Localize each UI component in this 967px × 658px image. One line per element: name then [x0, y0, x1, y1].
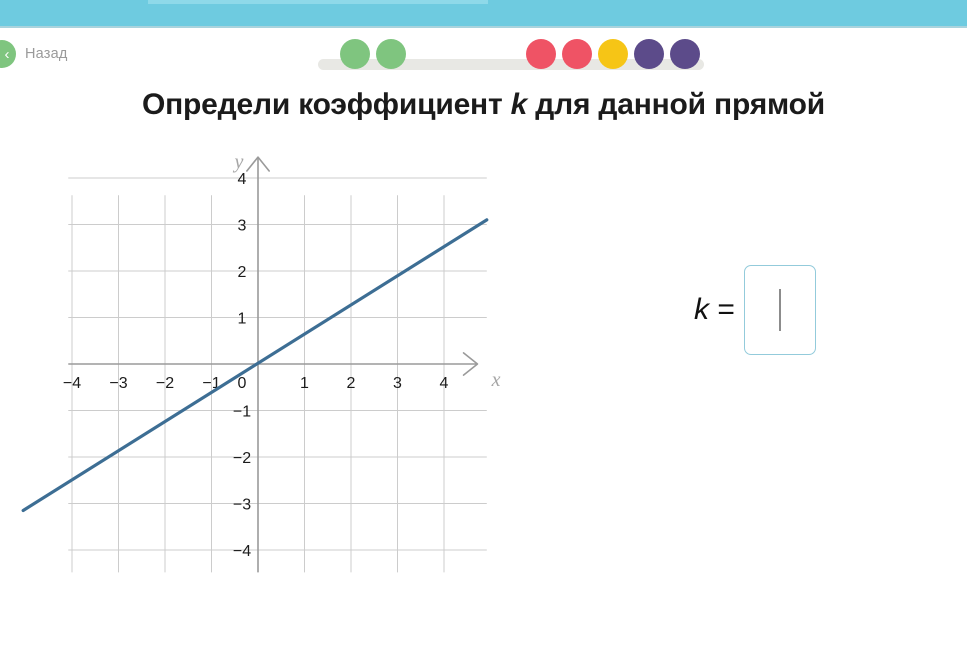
- y-tick-label: −3: [233, 497, 251, 514]
- y-axis-label: y: [233, 151, 244, 173]
- top-bar-highlight: [148, 0, 488, 4]
- page-title: Определи коэффициент k для данной прямой: [0, 88, 967, 122]
- y-tick-label: 2: [238, 264, 247, 281]
- origin-label: 0: [238, 375, 247, 392]
- progress-dot-5: [598, 39, 628, 69]
- answer-variable: k: [694, 293, 709, 326]
- page-title-after: для данной прямой: [527, 88, 825, 121]
- page-title-before: Определи коэффициент: [142, 88, 511, 121]
- chart-svg: xy−4−3−2−1123404321−1−2−3−4: [0, 140, 520, 590]
- back-button-label: Назад: [25, 46, 68, 62]
- progress-dot-6: [634, 39, 664, 69]
- x-tick-label: 4: [440, 375, 449, 392]
- x-tick-label: 1: [300, 375, 309, 392]
- y-tick-label: 3: [238, 218, 247, 235]
- y-tick-label: 1: [238, 311, 247, 328]
- x-tick-label: 2: [347, 375, 356, 392]
- y-tick-label: 4: [238, 171, 247, 188]
- progress-dot-3: [526, 39, 556, 69]
- x-tick-label: −2: [156, 375, 174, 392]
- top-bar-shadow: [0, 26, 967, 28]
- answer-label: k =: [694, 293, 735, 327]
- chevron-left-icon[interactable]: ‹: [0, 40, 16, 68]
- x-tick-label: 3: [393, 375, 402, 392]
- page-title-variable: k: [511, 88, 528, 121]
- answer-area: k =: [694, 265, 816, 355]
- y-tick-label: −2: [233, 450, 251, 467]
- plotted-line: [23, 220, 487, 511]
- x-tick-label: −3: [109, 375, 127, 392]
- back-button[interactable]: ‹ Назад: [0, 40, 68, 68]
- x-tick-label: −4: [63, 375, 81, 392]
- progress-dot-2: [376, 39, 406, 69]
- text-caret: [779, 289, 781, 331]
- answer-equals: =: [717, 293, 735, 326]
- top-bar: [0, 0, 967, 26]
- progress-dot-4: [562, 39, 592, 69]
- y-tick-label: −1: [233, 404, 251, 421]
- x-axis-label: x: [491, 369, 501, 391]
- progress-dot-7: [670, 39, 700, 69]
- coordinate-plane-chart: xy−4−3−2−1123404321−1−2−3−4: [0, 140, 520, 590]
- progress-bar: [318, 39, 704, 73]
- y-tick-label: −4: [233, 543, 251, 560]
- answer-input[interactable]: [744, 265, 816, 355]
- progress-dot-1: [340, 39, 370, 69]
